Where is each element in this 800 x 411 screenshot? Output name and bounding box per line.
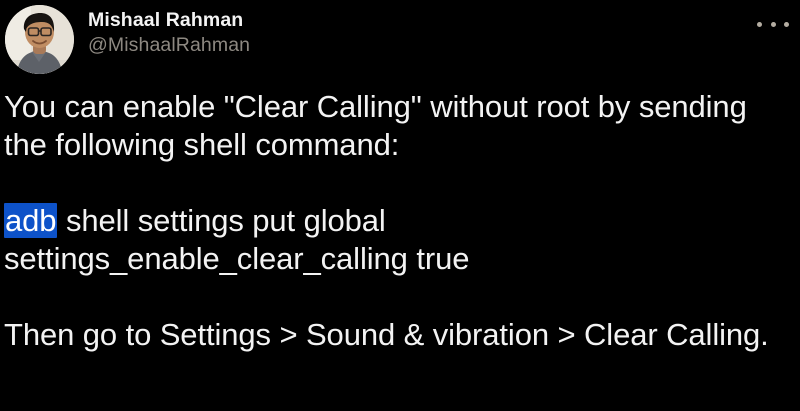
display-name: Mishaal Rahman [88, 8, 688, 32]
avatar-photo-icon [5, 5, 74, 74]
more-dot-1 [757, 22, 762, 27]
tweet-paragraph-intro: You can enable "Clear Calling" without r… [4, 88, 796, 164]
identity-block[interactable]: Mishaal Rahman @MishaalRahman [88, 8, 688, 58]
more-dot-3 [784, 22, 789, 27]
command-remainder: shell settings put global settings_enabl… [4, 203, 469, 276]
tweet-header: Mishaal Rahman @MishaalRahman [0, 0, 800, 82]
user-handle: @MishaalRahman [88, 32, 688, 58]
avatar[interactable] [5, 5, 74, 74]
adb-highlighted-token[interactable]: adb [4, 203, 57, 238]
tweet-body: You can enable "Clear Calling" without r… [4, 88, 796, 354]
more-options-icon[interactable] [756, 14, 790, 34]
more-dot-2 [771, 22, 776, 27]
tweet-paragraph-instructions: Then go to Settings > Sound & vibration … [4, 316, 796, 354]
tweet-card: Mishaal Rahman @MishaalRahman You can en… [0, 0, 800, 411]
tweet-paragraph-command: adb shell settings put global settings_e… [4, 202, 796, 278]
